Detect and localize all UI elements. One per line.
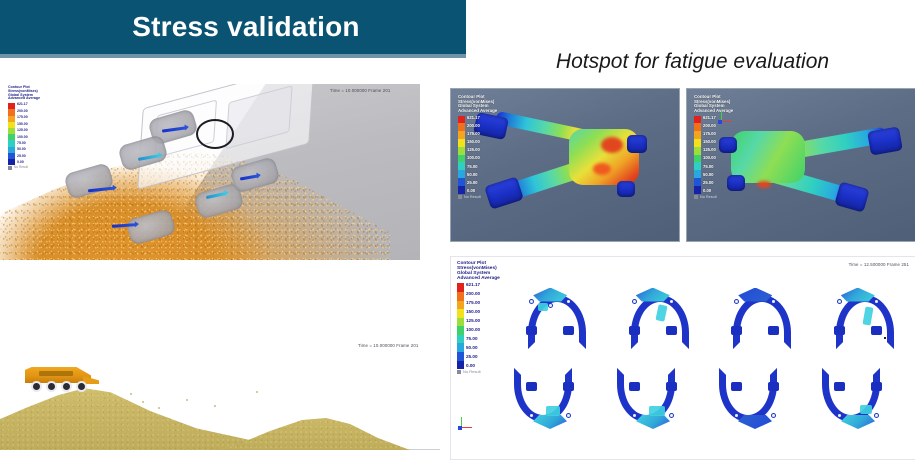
wishbone-model [832, 382, 884, 430]
wishbone-foot [871, 326, 882, 335]
legend-value: 150.00 [703, 140, 716, 144]
wishbone-foot [629, 326, 640, 335]
legend-value: 50.00 [703, 173, 716, 177]
legend-value: 50.00 [467, 173, 480, 177]
sand-spray-particle [130, 393, 132, 395]
legend-value: 0.00 [703, 189, 716, 193]
timestamp-label: Time = 10.000000 Frame 201 [358, 343, 418, 348]
wishbone-apex [533, 288, 567, 302]
legend-value: 150.00 [17, 123, 28, 127]
contour-legend: Contour Plot Stress(vonMises) Global Sys… [8, 86, 40, 170]
contour-legend: Contour Plot Stress(vonMises) Global Sys… [458, 95, 497, 199]
timestamp-label: Time = 10.000000 Frame 201 [330, 88, 390, 93]
legend-color-bar [457, 283, 464, 369]
wishbone-node [529, 413, 534, 418]
wishbone-node [669, 413, 674, 418]
no-result-label: No Result [464, 195, 481, 199]
axis-z [458, 426, 462, 430]
wishbone-grid [499, 263, 909, 453]
legend-value: 75.00 [466, 337, 480, 342]
grid-cell [807, 358, 910, 453]
subtitle: Hotspot for fatigue evaluation [470, 50, 915, 74]
grid-cell [704, 358, 807, 453]
wishbone-arc [514, 368, 572, 422]
wishbone-node [771, 299, 776, 304]
wishbone-foot [563, 382, 574, 391]
truck-wheel [31, 381, 42, 392]
stress-hotspot [593, 163, 611, 175]
wishbone-apex [841, 415, 875, 429]
no-result-label: No Result [700, 195, 717, 199]
legend-value: 150.00 [466, 310, 480, 315]
legend-value: 50.00 [466, 346, 480, 351]
wishbone-node [771, 413, 776, 418]
stress-hotspot [546, 406, 560, 416]
legend-value: 200.00 [703, 124, 716, 128]
legend-color-bar [458, 116, 465, 194]
no-result-swatch [458, 195, 462, 199]
wishbone-foot [768, 382, 779, 391]
legend-value: 75.00 [17, 142, 28, 146]
legend-value: 75.00 [703, 165, 716, 169]
bushing-upper [867, 126, 903, 155]
sand-spray-particle [104, 397, 106, 399]
contour-legend: Contour Plot Stress(vonMises) Global Sys… [457, 261, 500, 375]
legend-values: 621.17 200.00 175.00 150.00 125.00 100.0… [467, 116, 480, 194]
grid-cell [602, 358, 705, 453]
wishbone-node [632, 299, 637, 304]
legend-value: 200.00 [17, 110, 28, 114]
wishbone-apex [533, 415, 567, 429]
wishbone-node [837, 299, 842, 304]
fea-contour-panel-right: Contour Plot Stress(vonMises) Global Sys… [686, 88, 915, 242]
legend-color-bar [694, 116, 701, 194]
title-banner: Stress validation [0, 0, 466, 54]
wishbone-foot [563, 326, 574, 335]
legend-value: 100.00 [703, 156, 716, 160]
legend-value: 150.00 [467, 140, 480, 144]
legend-value: 75.00 [467, 165, 480, 169]
wishbone-model [729, 382, 781, 430]
bushing-outer [627, 135, 647, 153]
wishbone-foot [731, 326, 742, 335]
legend-values: 621.17 200.00 175.00 150.00 125.00 100.0… [466, 283, 480, 369]
grid-cell [807, 263, 910, 358]
legend-value: 621.17 [17, 103, 28, 107]
title-banner-underline [0, 54, 466, 58]
axis-triad [457, 417, 473, 433]
grid-cell [704, 263, 807, 358]
stress-hotspot [860, 405, 872, 414]
legend-value: 125.00 [466, 319, 480, 324]
no-result-label: No Result [14, 166, 28, 169]
wishbone-arc [733, 295, 791, 349]
legend-color-bar [8, 103, 15, 165]
wishbone-apex [636, 288, 670, 302]
no-result-swatch [694, 195, 698, 199]
wishbone-node [734, 299, 739, 304]
legend-value: 175.00 [466, 301, 480, 306]
wishbone-node [874, 413, 879, 418]
wishbone-node [874, 299, 879, 304]
wishbone-foot [666, 326, 677, 335]
legend-no-result: No Result [8, 166, 40, 170]
wishbone-model [627, 287, 679, 335]
wishbone-foot [834, 382, 845, 391]
legend-value: 125.00 [467, 148, 480, 152]
legend-value: 621.17 [703, 116, 716, 120]
legend-value: 175.00 [703, 132, 716, 136]
stress-hotspot [649, 406, 665, 416]
ball-joint [617, 181, 635, 197]
legend-value: 200.00 [467, 124, 480, 128]
legend-value: 175.00 [17, 116, 28, 120]
legend-value: 50.00 [17, 148, 28, 152]
legend-value: 100.00 [466, 328, 480, 333]
haul-truck-vehicle [25, 367, 99, 393]
wishbone-apex [636, 415, 670, 429]
sand-spray-particle [158, 407, 160, 409]
hotspot-annotation-circle [196, 119, 234, 149]
stress-hotspot [538, 303, 548, 311]
legend-value: 100.00 [467, 156, 480, 160]
legend-value: 175.00 [467, 132, 480, 136]
sand-spray-particle [116, 403, 118, 405]
wishbone-foot [526, 326, 537, 335]
legend-value: 25.00 [17, 155, 28, 159]
truck-deck [39, 371, 73, 376]
wishbone-model [524, 287, 576, 335]
wishbone-node [548, 303, 553, 308]
wishbone-model [524, 382, 576, 430]
sand-spray-particle [214, 405, 216, 407]
wishbone-apex [841, 288, 875, 302]
wishbone-foot [526, 382, 537, 391]
wishbone-foot [871, 382, 882, 391]
wishbone-apex [738, 415, 772, 429]
legend-no-result: No Result [458, 195, 497, 199]
legend-value: 125.00 [17, 129, 28, 133]
wishbone-node [632, 413, 637, 418]
wishbone-foot [731, 382, 742, 391]
legend-value: 200.00 [466, 292, 480, 297]
legend-value: 621.17 [466, 283, 480, 288]
sand-spray-particle [186, 399, 188, 401]
sand-spray-particle [256, 391, 258, 393]
dune-simulation-panel: Time = 10.000000 Frame 201 [0, 335, 440, 458]
legend-title-line: Advanced Average [458, 109, 497, 114]
axis-x [461, 427, 472, 428]
grid-cell [499, 358, 602, 453]
grid-cell [602, 263, 705, 358]
truck-wheel [46, 381, 57, 392]
wishbone-node [566, 413, 571, 418]
legend-value: 100.00 [17, 136, 28, 140]
wishbone-arc [617, 368, 675, 422]
wishbone-model [832, 287, 884, 335]
no-result-swatch [457, 370, 461, 374]
wishbone-arc [631, 295, 689, 349]
wishbone-node [529, 299, 534, 304]
stress-hotspot [757, 181, 771, 188]
wishbone-model [627, 382, 679, 430]
wishbone-node [669, 299, 674, 304]
bushing-lower [834, 181, 869, 212]
legend-no-result: No Result [694, 195, 733, 199]
no-result-swatch [8, 166, 12, 170]
slide-root: Stress validation Hotspot for fatigue ev… [0, 0, 915, 458]
grid-cell [499, 263, 602, 358]
legend-values: 621.17 200.00 175.00 150.00 125.00 100.0… [703, 116, 716, 194]
legend-value: 25.00 [467, 181, 480, 185]
wishbone-apex [738, 288, 772, 302]
wishbone-foot [768, 326, 779, 335]
truck-wheel [76, 381, 87, 392]
wishbone-arc [719, 368, 777, 422]
wishbone-foot [834, 326, 845, 335]
wishbone-grid-panel: Contour Plot Stress(vonMises) Global Sys… [450, 256, 915, 460]
truck-wheel [61, 381, 72, 392]
no-result-label: No Result [463, 370, 481, 374]
sand-spray-particle [142, 401, 144, 403]
fea-contour-panel-left: Contour Plot Stress(vonMises) Global Sys… [450, 88, 680, 242]
legend-no-result: No Result [457, 370, 500, 374]
legend-value: 125.00 [703, 148, 716, 152]
wishbone-node [734, 413, 739, 418]
dem-simulation-panel: Contour Plot Stress(vonMises) Global Sys… [0, 84, 420, 260]
legend-title-line: Advanced Average [8, 97, 40, 101]
legend-value: 25.00 [703, 181, 716, 185]
wishbone-model [729, 287, 781, 335]
legend-title-line: Advanced Average [694, 109, 733, 114]
wishbone-arc [528, 295, 586, 349]
page-title: Stress validation [106, 11, 359, 43]
legend-value: 25.00 [466, 355, 480, 360]
stress-hotspot [601, 137, 623, 153]
wishbone-node [837, 413, 842, 418]
wishbone-foot [629, 382, 640, 391]
marker-speck [884, 337, 886, 339]
wishbone-node [566, 299, 571, 304]
legend-value: 0.00 [467, 189, 480, 193]
contour-legend: Contour Plot Stress(vonMises) Global Sys… [694, 95, 733, 199]
legend-values: 621.17 200.00 175.00 150.00 125.00 100.0… [17, 103, 28, 165]
legend-title-line: Advanced Average [457, 276, 500, 281]
legend-value: 621.17 [467, 116, 480, 120]
wishbone-foot [666, 382, 677, 391]
